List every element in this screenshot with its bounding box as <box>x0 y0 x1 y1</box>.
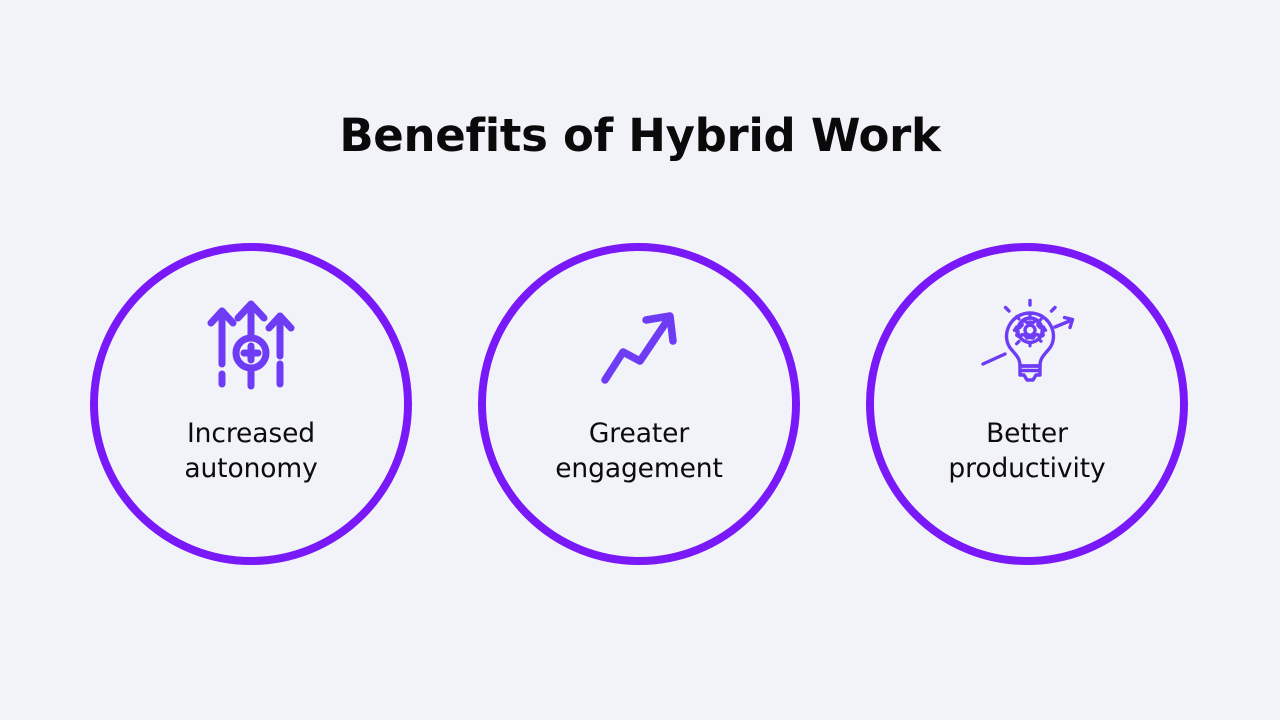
benefit-label-2: Greater engagement <box>555 416 723 486</box>
lightbulb-gear-icon <box>979 294 1075 394</box>
slide-canvas: Benefits of Hybrid Work <box>0 0 1280 720</box>
trending-up-arrow-icon <box>599 299 679 394</box>
page-title: Benefits of Hybrid Work <box>0 110 1280 162</box>
benefit-label-3: Better productivity <box>948 416 1105 486</box>
benefit-card-1[interactable]: Increased autonomy <box>90 243 412 565</box>
growth-arrows-icon <box>208 294 294 394</box>
benefit-card-3[interactable]: Better productivity <box>866 243 1188 565</box>
benefit-card-2[interactable]: Greater engagement <box>478 243 800 565</box>
benefit-label-1: Increased autonomy <box>184 416 317 486</box>
benefits-row: Increased autonomy Greater engagement <box>0 243 1280 565</box>
